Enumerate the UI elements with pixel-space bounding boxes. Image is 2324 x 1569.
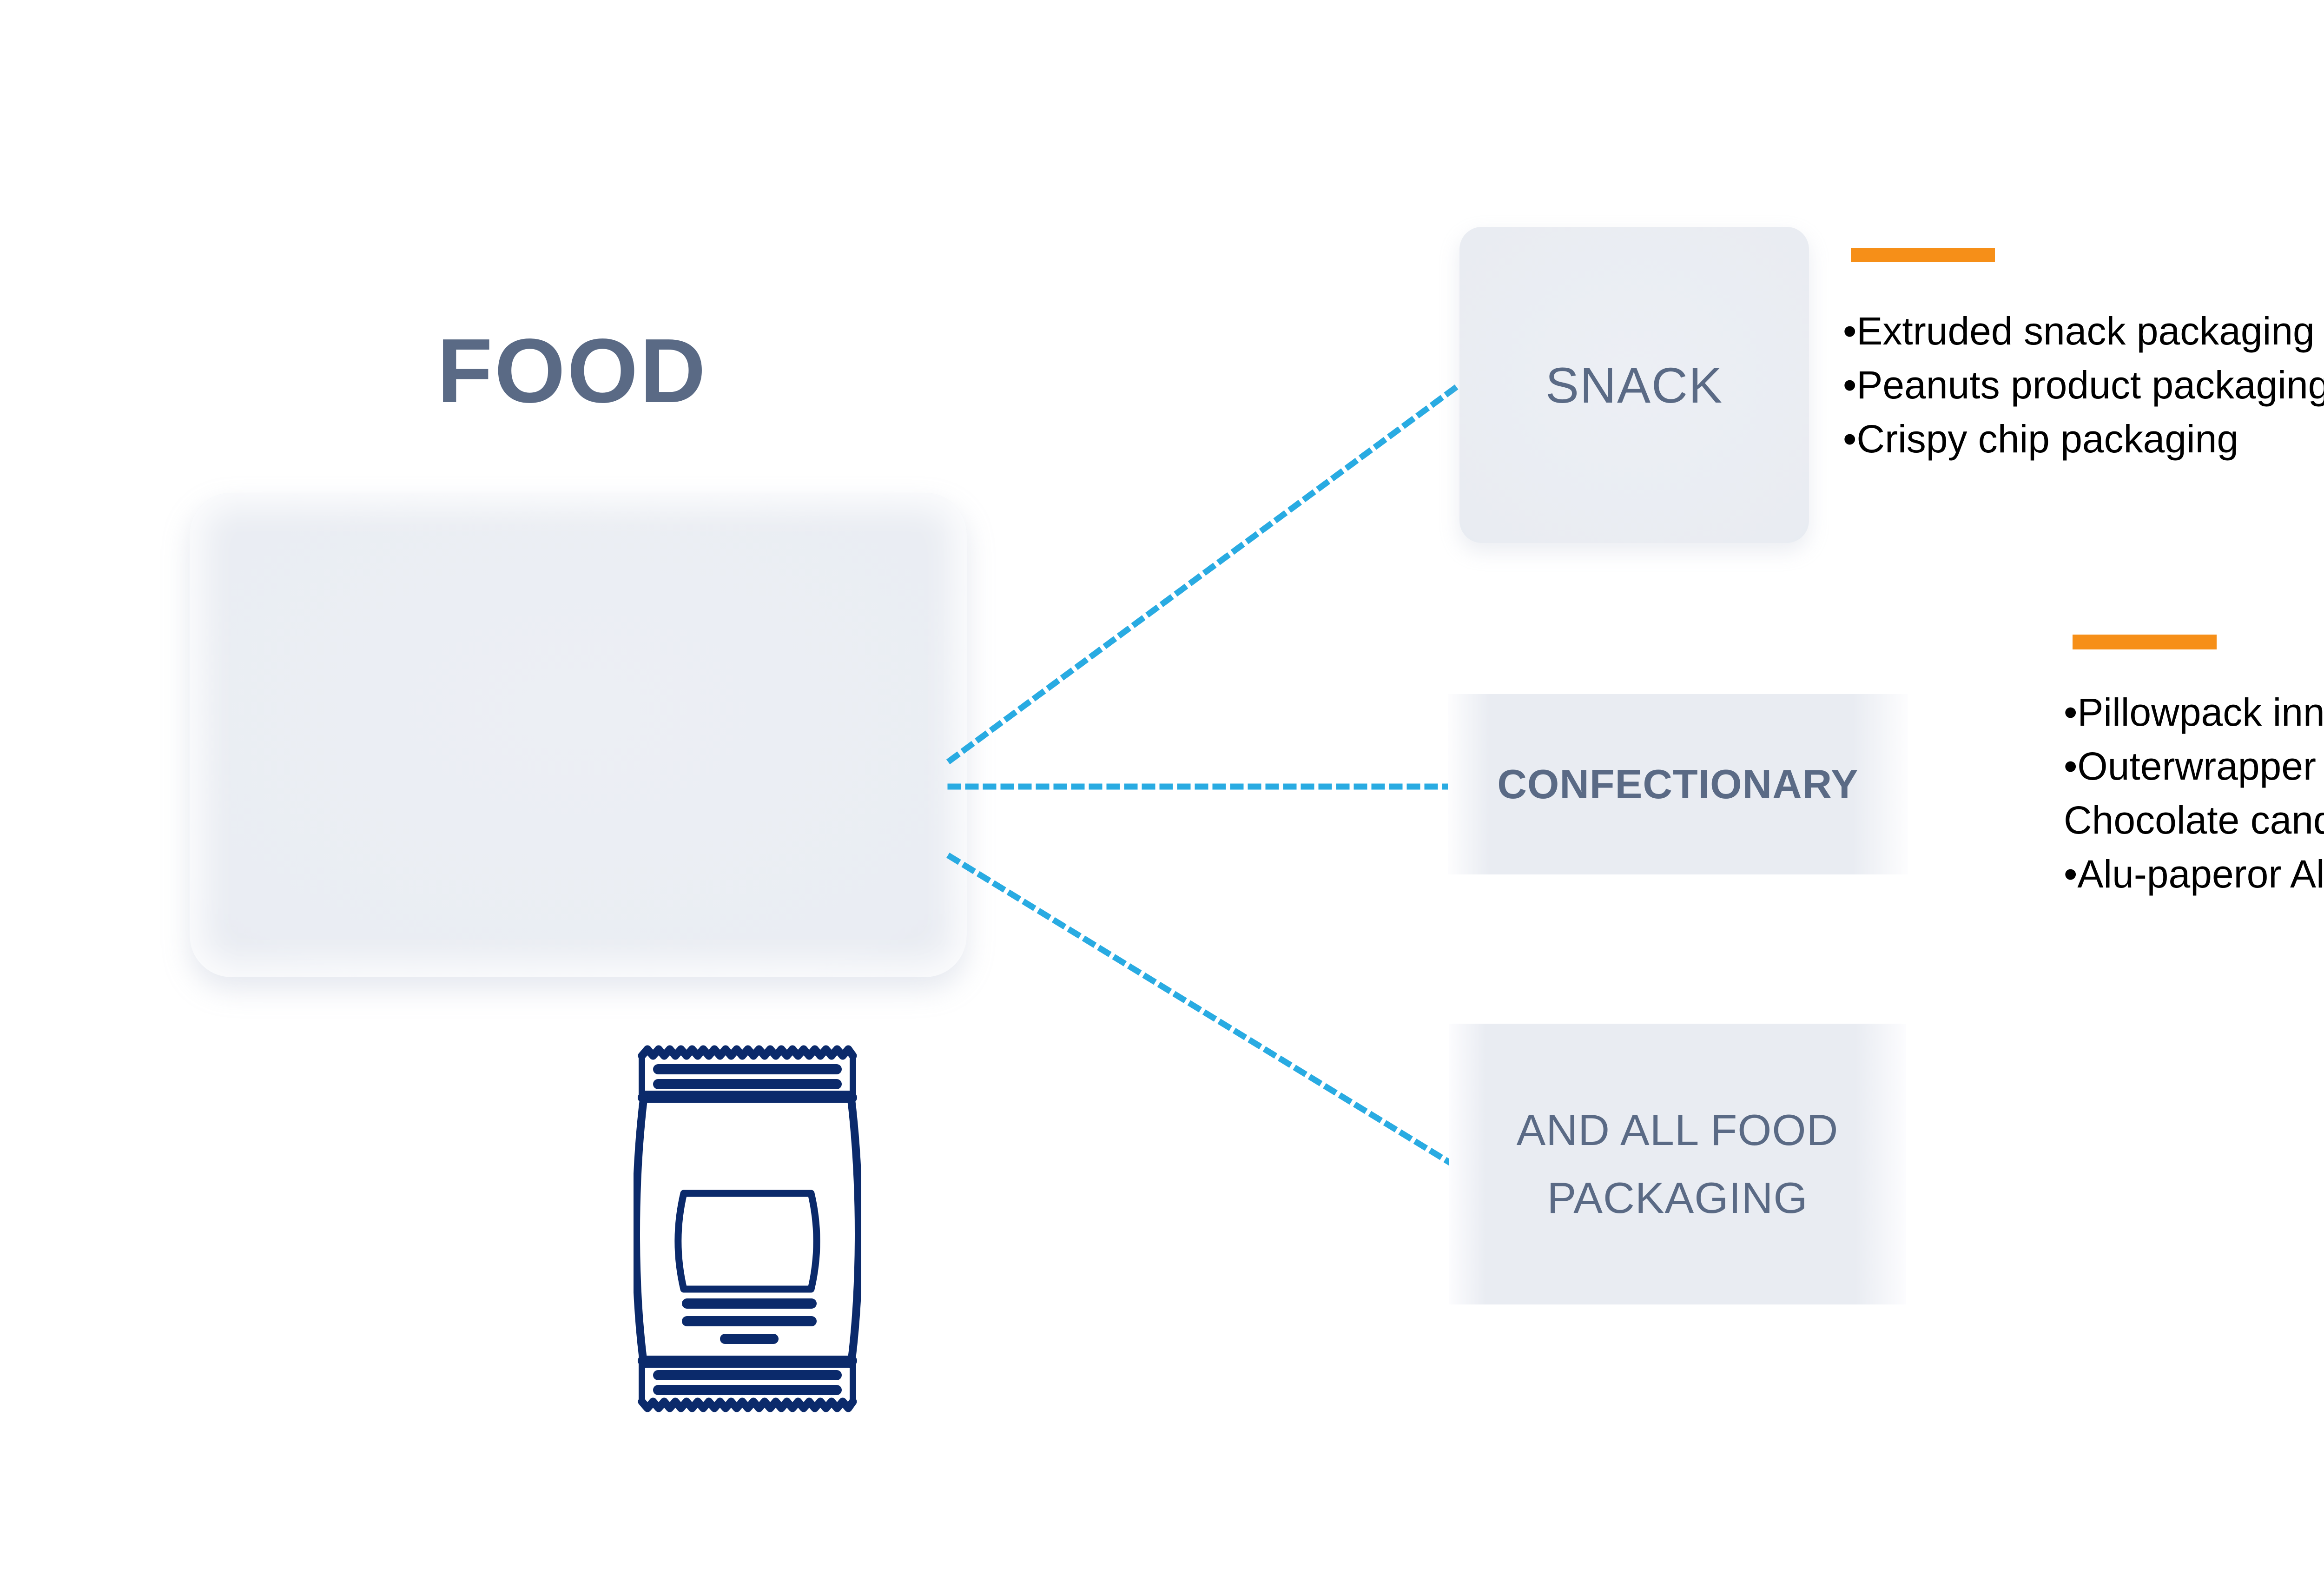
branch-label-confectionary: CONFECTIONARY (1497, 761, 1858, 808)
list-item: •Outerwrapper Twistable material Chocola… (2064, 740, 2324, 847)
diagram-canvas: FOOD (0, 0, 2324, 1569)
food-pouch-packaging-icon (634, 1044, 861, 1413)
branch-label-all-food-packaging: AND ALL FOOD PACKAGING (1517, 1096, 1839, 1231)
connector-to-all-food (951, 857, 1449, 1162)
food-category-card[interactable] (190, 493, 967, 977)
connector-to-snack (951, 388, 1455, 760)
list-item: •Pillowpack inner (2064, 686, 2324, 740)
bullet-list-snack: •Extruded snack packaging •Peanuts produ… (1843, 305, 2324, 466)
list-item: •Extruded snack packaging (1843, 305, 2324, 358)
list-item: •Alu-paperor Alu-PE material (2064, 847, 2324, 901)
accent-bar-confectionary (2073, 635, 2217, 649)
list-item: •Crispy chip packaging (1843, 412, 2324, 466)
page-title: FOOD (437, 325, 707, 417)
branch-node-snack[interactable]: SNACK (1459, 227, 1809, 543)
accent-bar-snack (1851, 248, 1995, 262)
branch-node-confectionary[interactable]: CONFECTIONARY (1448, 694, 1908, 874)
bullet-list-confectionary: •Pillowpack inner •Outerwrapper Twistabl… (2064, 686, 2324, 901)
branch-label-snack: SNACK (1545, 356, 1723, 414)
branch-node-all-food-packaging[interactable]: AND ALL FOOD PACKAGING (1449, 1024, 1906, 1304)
list-item: •Peanuts product packaging (1843, 358, 2324, 412)
